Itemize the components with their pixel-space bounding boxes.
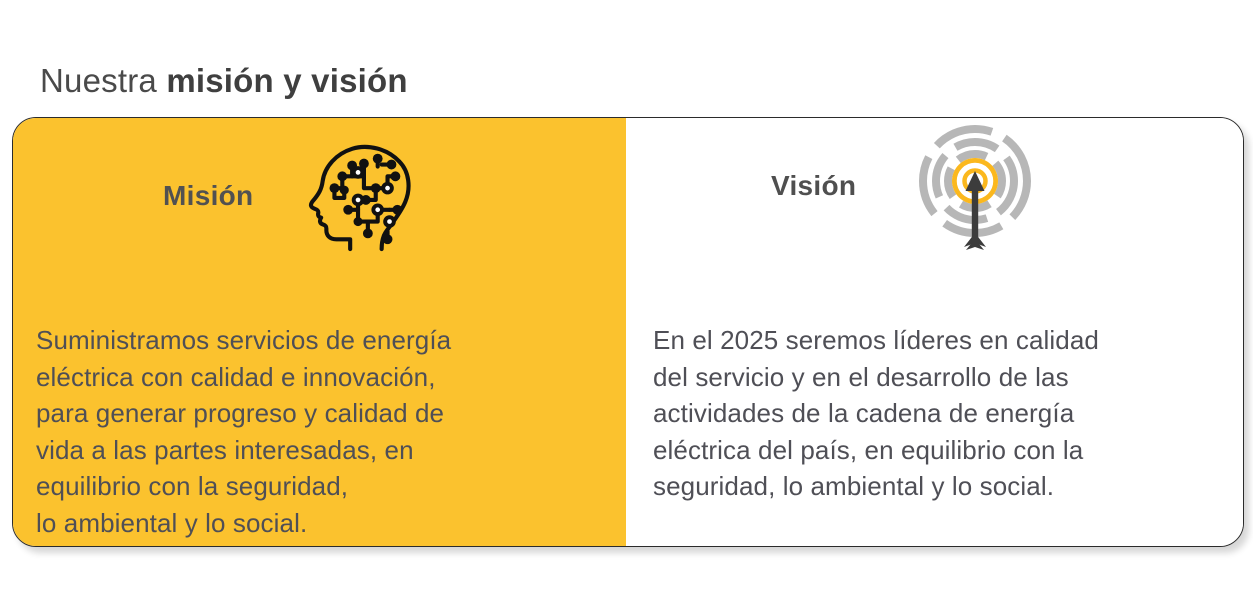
- mission-vision-card: Misión: [12, 117, 1244, 547]
- page-title: Nuestra misión y visión: [40, 60, 408, 102]
- page-title-regular: Nuestra: [40, 62, 166, 99]
- vision-panel: Visión: [626, 118, 1243, 546]
- ai-brain-head-icon: [301, 137, 419, 255]
- mission-heading: Misión: [163, 180, 253, 212]
- vision-body-text: En el 2025 seremos líderes en calidad de…: [653, 322, 1223, 505]
- page-title-bold: misión y visión: [166, 62, 407, 99]
- mission-panel: Misión: [13, 118, 626, 546]
- vision-header: Visión: [771, 126, 1036, 246]
- target-arrow-icon: [914, 121, 1036, 251]
- mission-header: Misión: [163, 136, 419, 256]
- mission-body-text: Suministramos servicios de energía eléct…: [36, 322, 616, 541]
- vision-heading: Visión: [771, 170, 856, 202]
